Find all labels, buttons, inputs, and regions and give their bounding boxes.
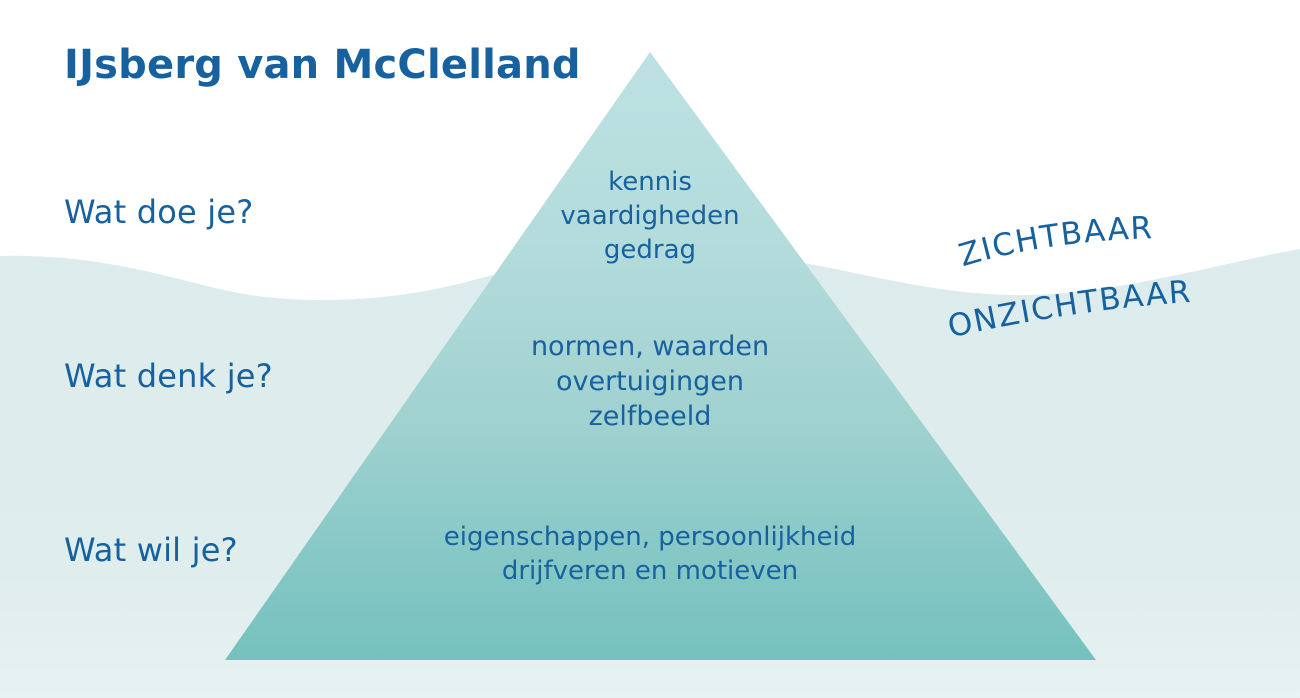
side-label-wat-doe-je: Wat doe je? [64,194,253,232]
iceberg-line: eigenschappen, persoonlijkheid [444,521,856,555]
iceberg-line: gedrag [560,234,739,268]
label-zichtbaar: ZICHTBAAR [955,210,1154,274]
label-zichtbaar-path: ZICHTBAAR [955,210,1154,274]
iceberg-line: drijfveren en motieven [444,555,856,589]
iceberg-line: normen, waarden [531,329,769,364]
iceberg-diagram: ZICHTBAAR ONZICHTBAAR IJsberg van McClel… [0,0,1300,698]
iceberg-line: kennis [560,166,739,200]
iceberg-block-below-water-lower: eigenschappen, persoonlijkheid drijfvere… [444,521,856,589]
iceberg-line: vaardigheden [560,200,739,234]
iceberg-line: overtuigingen [531,364,769,399]
side-label-wat-denk-je: Wat denk je? [64,358,273,396]
page-title: IJsberg van McClelland [64,42,581,89]
iceberg-line: zelfbeeld [531,399,769,434]
side-label-wat-wil-je: Wat wil je? [64,532,238,570]
iceberg-block-above-water: kennis vaardigheden gedrag [560,166,739,267]
iceberg-block-below-water-upper: normen, waarden overtuigingen zelfbeeld [531,329,769,434]
